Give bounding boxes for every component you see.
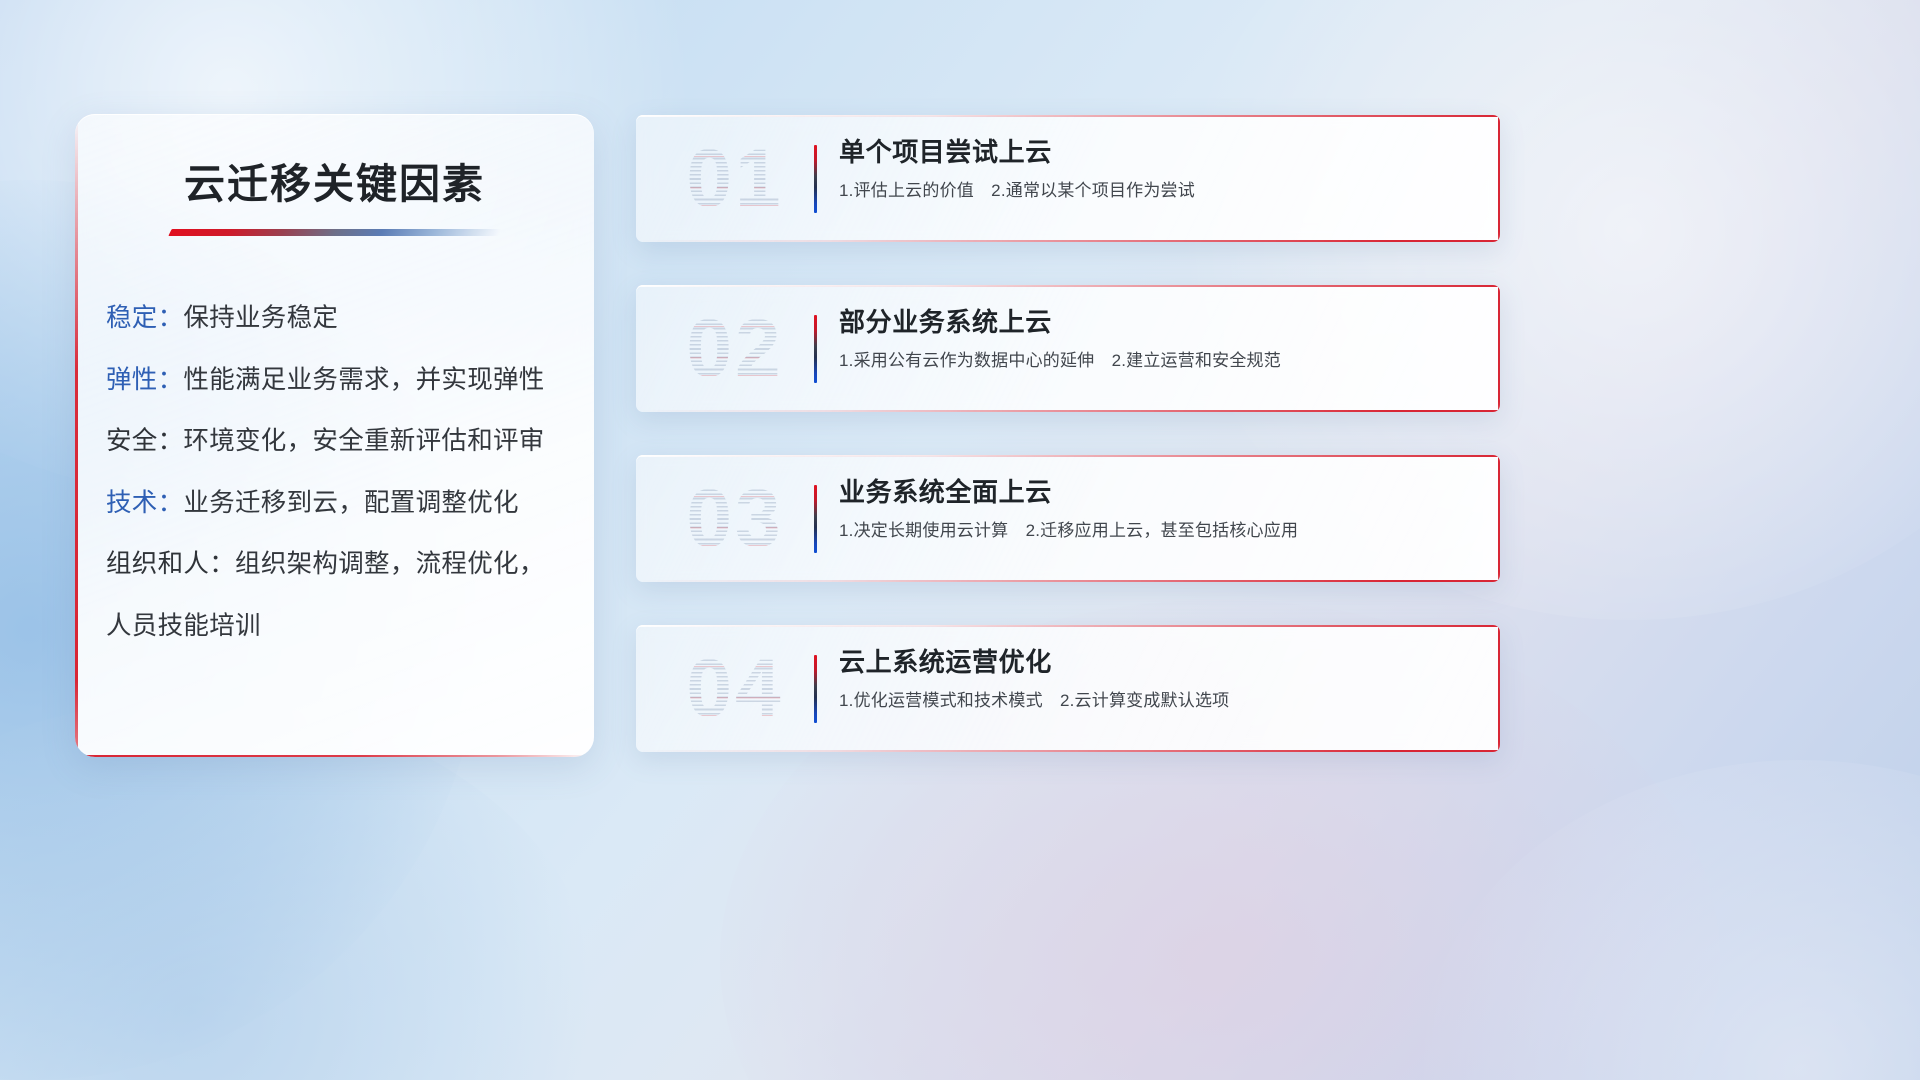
step-card-03[interactable]: 03 03 业务系统全面上云 1.决定长期使用云计算 2.迁移应用上云，甚至包括…	[636, 455, 1500, 582]
factor-item-technology: 技术：业务迁移到云，配置调整优化	[106, 491, 594, 517]
title-underline-accent	[168, 229, 501, 236]
factor-label: 安全：	[106, 427, 183, 455]
factor-list: 稳定：保持业务稳定 弹性：性能满足业务需求，并实现弹性 安全：环境变化，安全重新…	[106, 306, 594, 639]
background-glow-bottom-right	[1420, 760, 1920, 1080]
card-top-accent-line	[636, 285, 1500, 287]
step-accent-bar	[814, 485, 817, 553]
factor-value: 人员技能培训	[106, 612, 261, 640]
step-number-04-glitch: 04	[664, 639, 806, 739]
step-description: 1.评估上云的价值 2.通常以某个项目作为尝试	[839, 181, 1478, 201]
step-number-01-glitch: 01	[664, 129, 806, 229]
step-card-01[interactable]: 01 01 单个项目尝试上云 1.评估上云的价值 2.通常以某个项目作为尝试	[636, 115, 1500, 242]
factor-label: 技术：	[106, 489, 183, 517]
card-top-accent-line	[636, 625, 1500, 627]
step-title: 业务系统全面上云	[839, 477, 1478, 508]
step-title: 部分业务系统上云	[839, 307, 1478, 338]
factor-value: 保持业务稳定	[183, 304, 338, 332]
step-description: 1.优化运营模式和技术模式 2.云计算变成默认选项	[839, 691, 1478, 711]
card-top-accent-line	[636, 455, 1500, 457]
factor-item-organization-continued: 人员技能培训	[106, 614, 594, 640]
step-card-02[interactable]: 02 02 部分业务系统上云 1.采用公有云作为数据中心的延伸 2.建立运营和安…	[636, 285, 1500, 412]
step-accent-bar	[814, 315, 817, 383]
step-accent-bar	[814, 655, 817, 723]
step-description: 1.决定长期使用云计算 2.迁移应用上云，甚至包括核心应用	[839, 521, 1478, 541]
slide-canvas: 云迁移关键因素 稳定：保持业务稳定 弹性：性能满足业务需求，并实现弹性 安全：环…	[0, 0, 1920, 1080]
key-factors-panel: 云迁移关键因素 稳定：保持业务稳定 弹性：性能满足业务需求，并实现弹性 安全：环…	[75, 114, 594, 757]
card-top-accent-line	[636, 115, 1500, 117]
step-text-block: 云上系统运营优化 1.优化运营模式和技术模式 2.云计算变成默认选项	[839, 647, 1478, 712]
step-title: 云上系统运营优化	[839, 647, 1478, 678]
step-title: 单个项目尝试上云	[839, 137, 1478, 168]
factor-value: 业务迁移到云，配置调整优化	[183, 489, 518, 517]
factor-item-stability: 稳定：保持业务稳定	[106, 306, 594, 332]
factor-item-elasticity: 弹性：性能满足业务需求，并实现弹性	[106, 368, 594, 394]
factor-value: 性能满足业务需求，并实现弹性	[183, 366, 544, 394]
step-number-03-glitch: 03	[664, 469, 806, 569]
step-description: 1.采用公有云作为数据中心的延伸 2.建立运营和安全规范	[839, 351, 1478, 371]
step-text-block: 业务系统全面上云 1.决定长期使用云计算 2.迁移应用上云，甚至包括核心应用	[839, 477, 1478, 542]
factor-item-organization: 组织和人：组织架构调整，流程优化，	[106, 552, 594, 578]
page-title: 云迁移关键因素	[75, 161, 594, 208]
factor-label: 组织和人：	[106, 550, 235, 578]
step-text-block: 单个项目尝试上云 1.评估上云的价值 2.通常以某个项目作为尝试	[839, 137, 1478, 202]
factor-label: 弹性：	[106, 366, 183, 394]
factor-value: 环境变化，安全重新评估和评审	[183, 427, 544, 455]
factor-item-security: 安全：环境变化，安全重新评估和评审	[106, 429, 594, 455]
step-text-block: 部分业务系统上云 1.采用公有云作为数据中心的延伸 2.建立运营和安全规范	[839, 307, 1478, 372]
step-number-02-glitch: 02	[664, 299, 806, 399]
factor-value: 组织架构调整，流程优化，	[235, 550, 545, 578]
background-glow-bottom-left	[0, 700, 600, 1080]
factor-label: 稳定：	[106, 304, 183, 332]
step-card-04[interactable]: 04 04 云上系统运营优化 1.优化运营模式和技术模式 2.云计算变成默认选项	[636, 625, 1500, 752]
step-accent-bar	[814, 145, 817, 213]
